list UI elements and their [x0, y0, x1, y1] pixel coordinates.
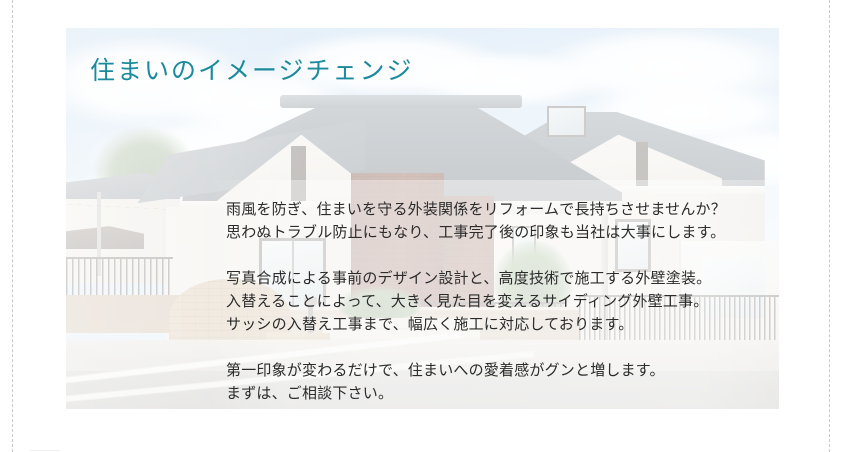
hero-body-copy: 雨風を防ぎ、住まいを守る外装関係をリフォームで長持ちさせませんか？ 思わぬトラブ…	[226, 198, 746, 405]
copy-line: 思わぬトラブル防止にもなり、工事完了後の印象も当社は大事にします。	[226, 221, 746, 244]
page-guide-left	[12, 0, 13, 452]
page-footer-rule	[30, 450, 60, 451]
copy-line: 写真合成による事前のデザイン設計と、高度技術で施工する外壁塗装。	[226, 267, 746, 290]
copy-line: 入替えることによって、大きく見た目を変えるサイディング外壁工事。	[226, 290, 746, 313]
page-root: 住まいのイメージチェンジ 雨風を防ぎ、住まいを守る外装関係をリフォームで長持ちさ…	[0, 0, 850, 452]
paragraph: 写真合成による事前のデザイン設計と、高度技術で施工する外壁塗装。 入替えることに…	[226, 267, 746, 336]
paragraph: 第一印象が変わるだけで、住まいへの愛着感がグンと増します。 まずは、ご相談下さい…	[226, 359, 746, 405]
copy-line: まずは、ご相談下さい。	[226, 382, 746, 405]
roof-ridge	[280, 95, 522, 108]
copy-line: サッシの入替え工事まで、幅広く施工に対応しております。	[226, 313, 746, 336]
window	[547, 106, 586, 136]
copy-line: 第一印象が変わるだけで、住まいへの愛着感がグンと増します。	[226, 359, 746, 382]
hero-banner: 住まいのイメージチェンジ 雨風を防ぎ、住まいを守る外装関係をリフォームで長持ちさ…	[66, 28, 779, 409]
page-guide-right	[829, 0, 830, 452]
page-title: 住まいのイメージチェンジ	[90, 56, 414, 86]
paragraph: 雨風を防ぎ、住まいを守る外装関係をリフォームで長持ちさせませんか？ 思わぬトラブ…	[226, 198, 746, 244]
copy-line: 雨風を防ぎ、住まいを守る外装関係をリフォームで長持ちさせませんか？	[226, 198, 746, 221]
right-wing-post	[636, 142, 647, 192]
